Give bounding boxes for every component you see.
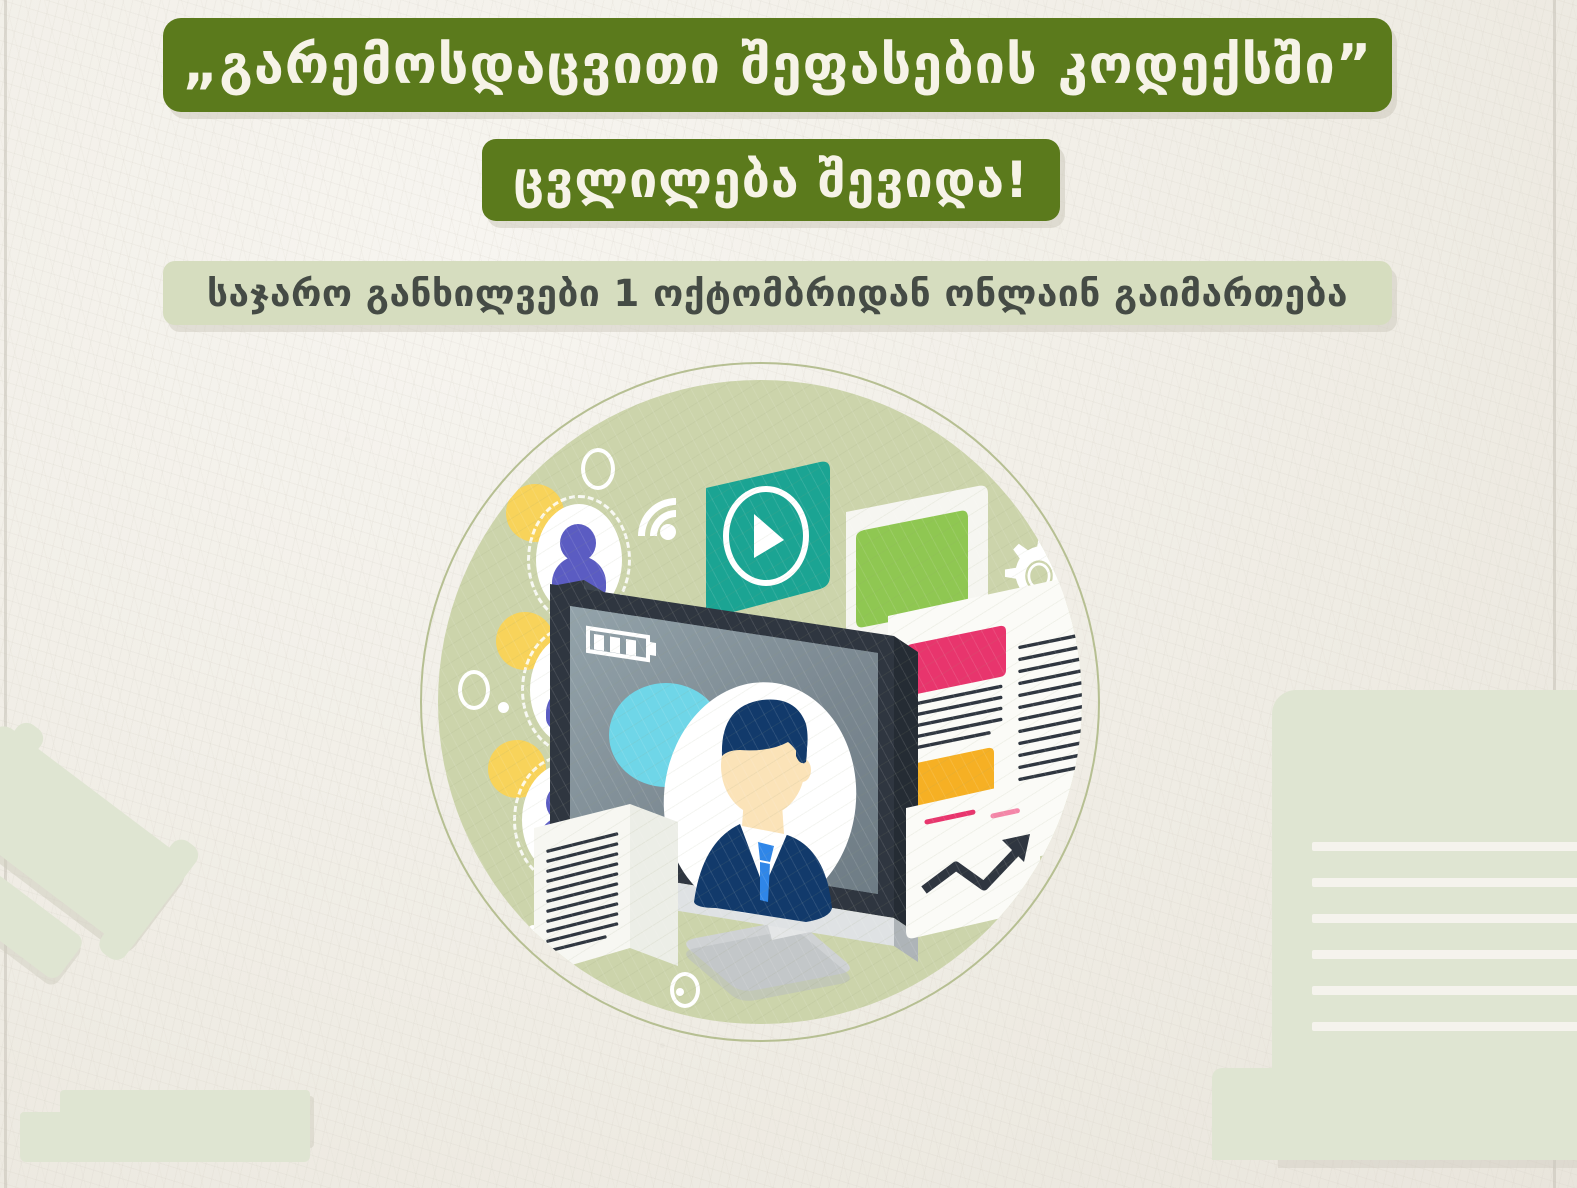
headline-text: „გარემოსდაცვითი შეფასების კოდექსში”: [183, 38, 1373, 92]
participant-avatar-1: [536, 504, 622, 616]
participant-avatar-plate: [536, 504, 622, 616]
participant-avatar-head: [554, 654, 590, 692]
speaker-figure: [694, 700, 832, 923]
participant-badge-2: [496, 612, 554, 670]
decor-ring: [943, 545, 975, 585]
document-watermark-line: [1312, 986, 1577, 995]
headline-banner: „გარემოსდაცვითი შეფასების კოდექსში”: [163, 18, 1392, 112]
video-card: [688, 458, 868, 638]
chat-bubble-icon: [609, 683, 723, 804]
chart-card: [898, 762, 1082, 972]
green-image-card: [838, 482, 1038, 712]
participant-avatar-2: [530, 634, 616, 746]
participant-avatar-head: [546, 784, 582, 822]
document-card-left: [526, 798, 726, 1024]
participant-badge-3: [488, 740, 546, 798]
participant-avatar-plate: [530, 634, 616, 746]
decor-ring: [623, 890, 655, 930]
participant-avatar-body: [546, 686, 600, 730]
decor-dot: [803, 498, 814, 509]
gavel-cap-right: [95, 835, 203, 965]
decor-ring: [458, 670, 490, 710]
gavel-watermark: [0, 700, 350, 1120]
participant-badge-1: [506, 484, 564, 542]
gavel-sound-block-base: [20, 1112, 310, 1162]
participant-avatar-ring: [513, 755, 617, 885]
participant-avatar-ring: [527, 495, 631, 625]
subheadline-text: ცვლილება შევიდა!: [513, 155, 1029, 205]
decor-dot: [676, 988, 684, 996]
illustration-circle: [438, 380, 1082, 1024]
gavel-cap-left: [0, 718, 48, 848]
document-watermark-line: [1312, 950, 1577, 959]
document-watermark-tab: [1212, 1068, 1292, 1160]
document-watermark-line: [1312, 842, 1577, 851]
note-banner: საჯარო განხილვები 1 ოქტომბრიდან ონლაინ გ…: [163, 261, 1392, 325]
document-watermark-line: [1312, 878, 1577, 887]
document-watermark-line: [1312, 914, 1577, 923]
document-watermark-line: [1312, 1022, 1577, 1031]
illustration: [420, 362, 1100, 1042]
speaker-photo-oval: [652, 673, 867, 924]
cloud-icon: [566, 904, 646, 946]
trending-up-arrow-icon: [1002, 834, 1030, 862]
note-text: საჯარო განხილვები 1 ოქტომბრიდან ონლაინ გ…: [207, 275, 1348, 312]
participant-avatar-plate: [522, 764, 608, 876]
battery-icon: [588, 628, 656, 660]
decor-ring: [581, 448, 615, 490]
participant-avatar-head: [560, 524, 596, 562]
participant-avatar-3: [522, 764, 608, 876]
subheadline-banner: ცვლილება შევიდა!: [482, 139, 1060, 221]
monitor: [544, 550, 1004, 1020]
decor-dot: [498, 702, 509, 713]
decor-ring: [670, 972, 700, 1008]
wifi-icon: [632, 492, 712, 562]
decor-ring: [468, 910, 496, 944]
participant-avatar-ring: [521, 625, 625, 755]
participant-avatar-body: [538, 816, 592, 860]
participant-avatar-body: [552, 556, 606, 600]
decor-dot: [928, 568, 937, 577]
document-watermark: [1272, 690, 1577, 1160]
